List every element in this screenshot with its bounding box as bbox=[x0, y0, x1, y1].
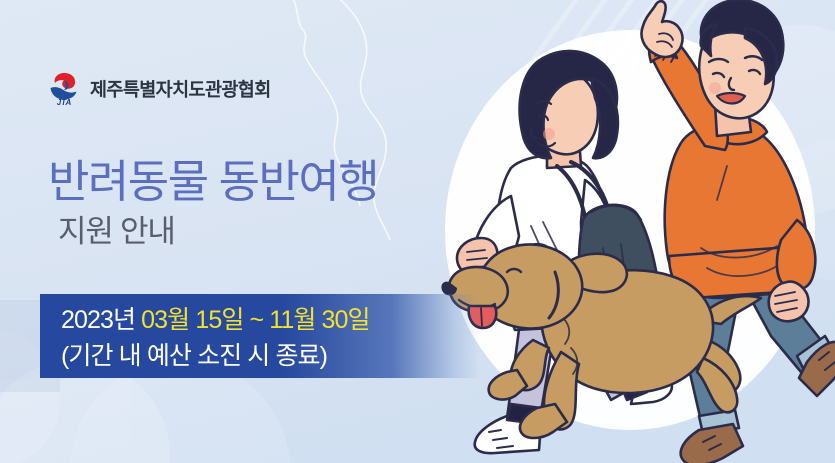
campaign-period-note: (기간 내 예산 소진 시 종료) bbox=[61, 339, 480, 375]
page-subtitle: 지원 안내 bbox=[58, 215, 378, 249]
campaign-year: 2023년 bbox=[61, 306, 135, 334]
page-title: 반려동물 동반여행 bbox=[48, 158, 378, 207]
pointing-hand bbox=[642, 1, 683, 57]
jta-taegeuk-logo-icon: JTA bbox=[48, 72, 80, 106]
campaign-date-range: 03월 15일 ~ 11월 30일 bbox=[141, 306, 369, 334]
two-travelers-with-dog-illustration bbox=[415, 0, 835, 463]
campaign-period-banner: 2023년 03월 15일 ~ 11월 30일 (기간 내 예산 소진 시 종료… bbox=[40, 294, 480, 378]
svg-text:JTA: JTA bbox=[57, 98, 72, 106]
headline-block: 반려동물 동반여행 지원 안내 bbox=[48, 158, 378, 249]
illustration-svg bbox=[415, 0, 835, 463]
campaign-period-line-1: 2023년 03월 15일 ~ 11월 30일 bbox=[61, 303, 480, 339]
promo-banner: JTA 제주특별자치도관광협회 반려동물 동반여행 지원 안내 2023년 03… bbox=[0, 0, 835, 463]
organization-logo-row: JTA 제주특별자치도관광협회 bbox=[48, 72, 271, 106]
organization-name: 제주특별자치도관광협회 bbox=[90, 76, 271, 102]
shoe-left bbox=[681, 424, 743, 463]
